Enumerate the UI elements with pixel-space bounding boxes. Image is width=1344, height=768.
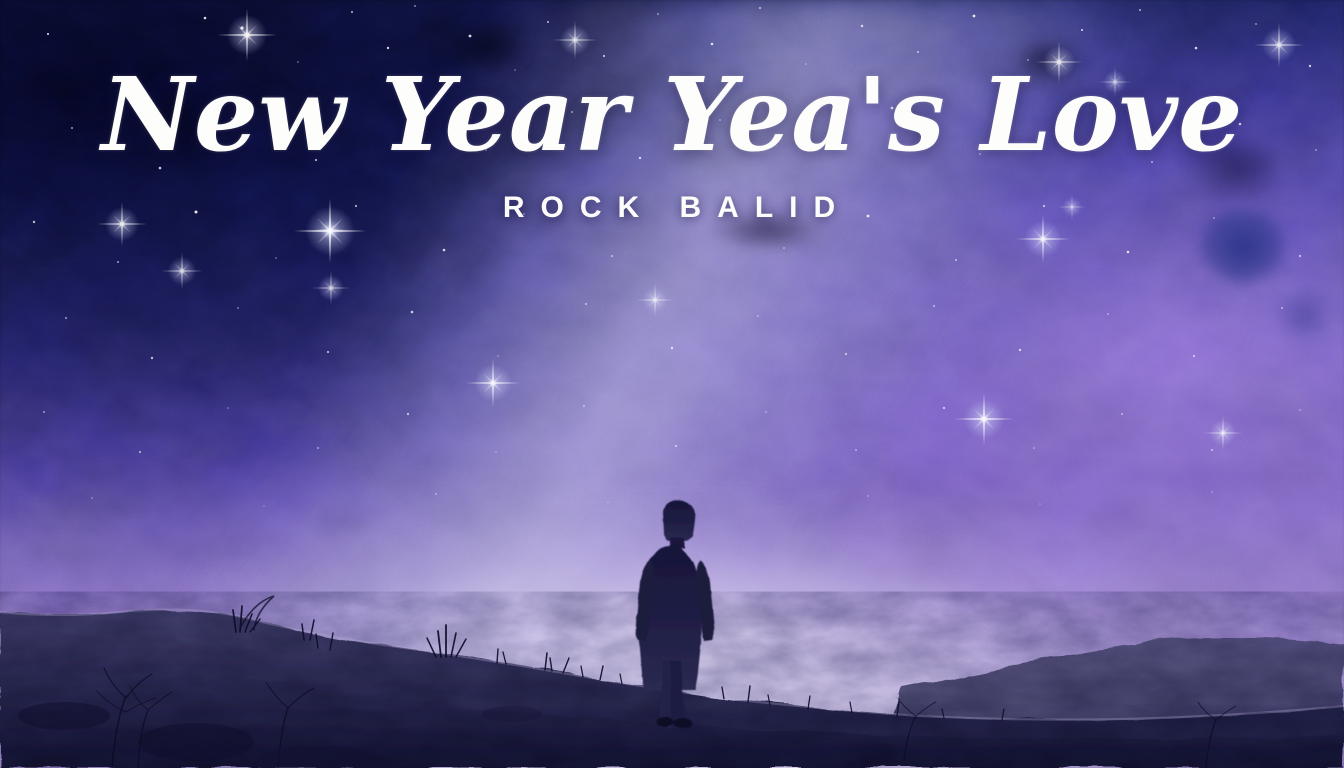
sparkle-star — [217, 8, 276, 61]
sparkle-star — [636, 283, 674, 317]
page-title: New Year Yea's Love — [0, 62, 1344, 167]
subtitle: ROCK BALID — [0, 191, 1344, 225]
sparkle-star — [1203, 415, 1243, 450]
sparkle-star — [44, 741, 76, 768]
grass-silhouettes — [233, 596, 1004, 720]
sparkle-star — [466, 359, 521, 408]
title-block: New Year Yea's Love ROCK BALID — [0, 62, 1344, 225]
bare-branches — [96, 668, 1236, 768]
rocks — [18, 702, 542, 768]
sparkle-star — [161, 252, 203, 289]
sparkle-star — [312, 271, 350, 305]
poster-canvas: New Year Yea's Love ROCK BALID — [0, 0, 1344, 768]
sparkle-star — [553, 20, 597, 59]
sparkle-star — [1254, 23, 1304, 68]
sparkle-star — [954, 392, 1013, 445]
